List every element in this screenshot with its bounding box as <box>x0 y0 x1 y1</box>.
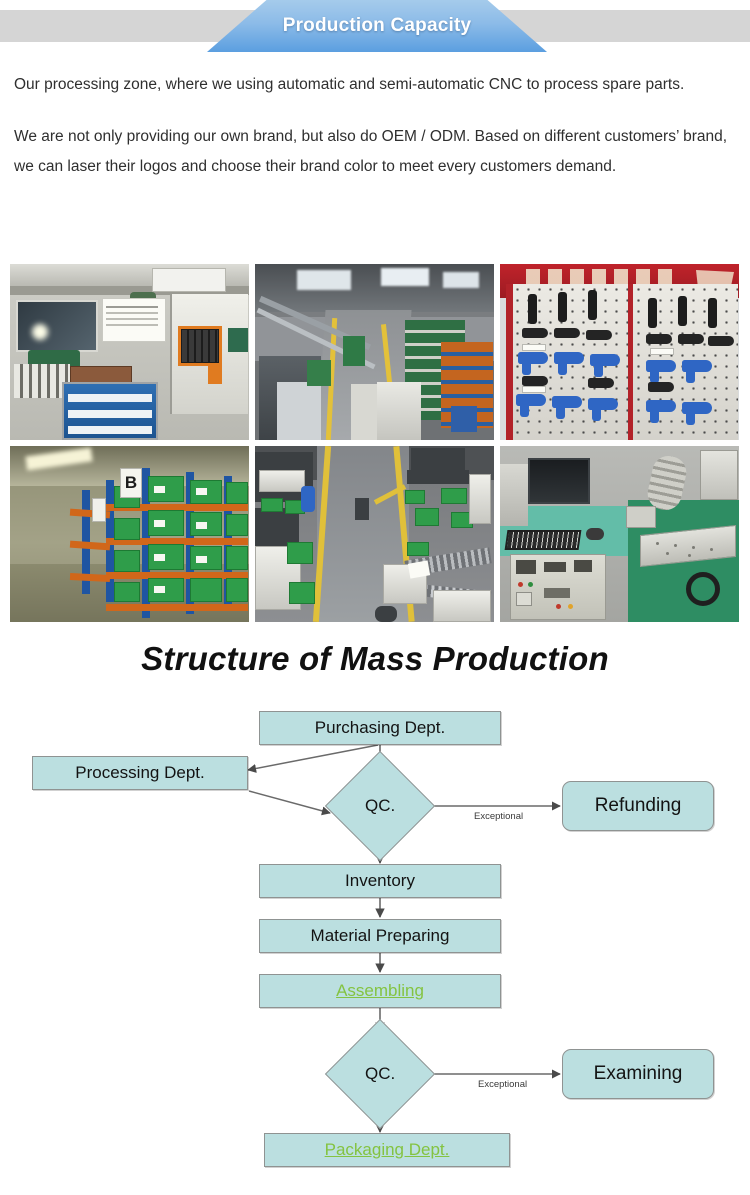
photo-factory-production-aisle: Overhead view of production workshop ais… <box>255 264 494 440</box>
flow-node-label: Processing Dept. <box>75 763 204 783</box>
flow-node-label: QC. <box>365 1064 395 1084</box>
flow-node-material-preparing[interactable]: Material Preparing <box>259 919 501 953</box>
photo-assembly-line-aisle: Assembly line aisle with conveyors <box>255 446 494 622</box>
flow-node-label: Assembling <box>336 981 424 1001</box>
flow-node-label: Inventory <box>345 871 415 891</box>
flow-node-inventory[interactable]: Inventory <box>259 864 501 898</box>
flow-node-label: Material Preparing <box>311 926 450 946</box>
page-banner: Production Capacity <box>0 0 750 52</box>
rack-bay-sign: B <box>120 468 142 498</box>
flow-node-label: Packaging Dept. <box>325 1140 450 1160</box>
flow-node-label: Examining <box>594 1063 683 1085</box>
photo-row-1: CNC machining center with tool cabinet O… <box>10 264 740 440</box>
edge-label-qc2-exceptional: Exceptional <box>478 1079 527 1090</box>
photo-cnc-machining-center: CNC machining center with tool cabinet <box>10 264 249 440</box>
flow-node-refunding[interactable]: Refunding <box>562 781 714 831</box>
flow-node-packaging-dept[interactable]: Packaging Dept. <box>264 1133 510 1167</box>
mass-production-flowchart: Purchasing Dept. Processing Dept. QC. Ex… <box>0 695 750 1195</box>
structure-section-title: Structure of Mass Production <box>0 640 750 678</box>
flow-node-processing-dept[interactable]: Processing Dept. <box>32 756 248 790</box>
factory-photo-grid: CNC machining center with tool cabinet O… <box>10 264 740 628</box>
flow-node-purchasing-dept[interactable]: Purchasing Dept. <box>259 711 501 745</box>
flow-node-label: QC. <box>365 796 395 816</box>
photo-pneumatic-tool-display-wall: Pegboard wall of pneumatic tools <box>500 264 739 440</box>
intro-copy: Our processing zone, where we using auto… <box>0 52 750 182</box>
page-title: Production Capacity <box>283 15 472 37</box>
photo-row-2: B Warehouse racking with green parts bin… <box>10 446 740 622</box>
flow-node-label: Refunding <box>595 795 682 817</box>
photo-warehouse-racking: B Warehouse racking with green parts bin… <box>10 446 249 622</box>
edge-label-qc1-exceptional: Exceptional <box>474 811 523 822</box>
flow-node-label: Purchasing Dept. <box>315 718 445 738</box>
intro-paragraph-1: Our processing zone, where we using auto… <box>14 70 736 100</box>
banner-trapezoid: Production Capacity <box>207 0 547 52</box>
intro-paragraph-2: We are not only providing our own brand,… <box>14 122 736 182</box>
flow-node-examining[interactable]: Examining <box>562 1049 714 1099</box>
flow-node-assembling[interactable]: Assembling <box>259 974 501 1008</box>
photo-testing-workbench: Testing workbench with computer and mach… <box>500 446 739 622</box>
